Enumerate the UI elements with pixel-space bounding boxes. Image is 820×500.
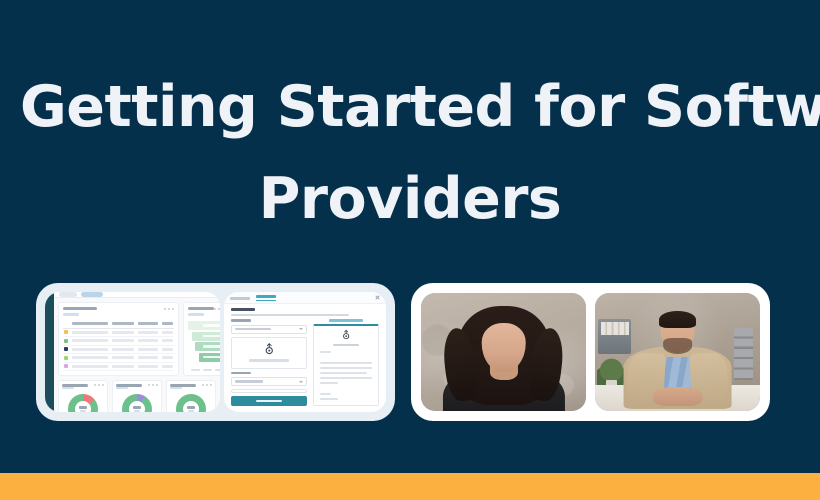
donut-chart-3 xyxy=(176,394,206,412)
presenter-hair xyxy=(659,311,697,329)
column-header-metric-1 xyxy=(112,322,134,325)
email-signoff-line xyxy=(320,393,330,395)
column-header-metric-3 xyxy=(162,322,173,325)
chevron-down-icon xyxy=(299,381,303,383)
dashboard-main xyxy=(54,298,220,380)
analytics-dashboard-screenshot xyxy=(45,292,220,412)
funnel-legend xyxy=(188,369,220,371)
template-select[interactable] xyxy=(231,325,307,334)
performance-table-panel xyxy=(58,302,179,376)
logo-upload-box[interactable]: ⛢ xyxy=(231,337,307,369)
table-row[interactable] xyxy=(63,337,174,346)
page-title: Getting Started for Software Providers xyxy=(0,84,820,222)
settings-tab-bar xyxy=(224,292,386,304)
funnel-band xyxy=(188,321,220,330)
panel-menu-icon[interactable] xyxy=(148,384,158,386)
column-header-name xyxy=(72,322,108,325)
page-title-line-2: Providers xyxy=(20,176,800,222)
funnel-band xyxy=(195,342,220,351)
email-body-line xyxy=(320,367,372,369)
panel-subtitle-chip xyxy=(116,387,128,390)
settings-form: ⛢ xyxy=(231,319,307,406)
panel-subtitle-chip xyxy=(63,313,79,316)
table-header-row xyxy=(63,320,174,329)
donut-wrap xyxy=(116,394,158,412)
settings-header xyxy=(224,304,386,320)
email-body-line xyxy=(320,372,367,374)
table xyxy=(63,320,174,371)
preview-tab[interactable] xyxy=(313,319,379,322)
tab-general[interactable] xyxy=(230,294,250,303)
panel-menu-icon[interactable] xyxy=(94,384,104,386)
panel-header xyxy=(188,307,220,310)
panel-title xyxy=(63,307,97,310)
donut-charts-row xyxy=(54,380,220,412)
bottom-accent-bar xyxy=(0,473,820,500)
email-preview: ⛢ xyxy=(313,324,379,406)
brand-logo-icon: ⛢ xyxy=(264,343,274,356)
settings-title xyxy=(231,308,255,312)
dashboard-preview-card[interactable]: ⛢ ⛢ xyxy=(36,283,395,421)
funnel-band xyxy=(192,332,221,341)
email-body-line xyxy=(320,382,338,384)
office-shelf xyxy=(598,319,631,354)
panel-menu-icon[interactable] xyxy=(214,308,220,310)
donut-chart-card[interactable] xyxy=(58,380,108,412)
field-label-1 xyxy=(231,319,251,322)
email-logo: ⛢ xyxy=(333,331,359,346)
table-row[interactable] xyxy=(63,354,174,363)
brand-logo-icon: ⛢ xyxy=(342,331,350,342)
email-preview-column: ⛢ xyxy=(313,319,379,406)
table-row[interactable] xyxy=(63,329,174,338)
settings-extra-box xyxy=(231,389,307,393)
page-title-line-1: Getting Started for Software xyxy=(20,84,800,130)
settings-columns: ⛢ ⛢ xyxy=(224,319,386,412)
field-label-2 xyxy=(231,372,251,375)
office-rack xyxy=(734,328,754,380)
email-signature-line xyxy=(320,398,338,400)
donut-chart-1 xyxy=(68,394,98,412)
save-changes-button[interactable] xyxy=(231,396,307,406)
presenter-beard xyxy=(663,338,693,355)
donut-wrap xyxy=(62,394,104,412)
email-body-line xyxy=(320,362,372,364)
tab-branding[interactable] xyxy=(256,294,276,303)
close-icon[interactable] xyxy=(375,295,380,300)
donut-chart-card[interactable] xyxy=(112,380,162,412)
dashboard-sidebar xyxy=(45,292,54,412)
panel-title xyxy=(188,307,214,310)
video-thumbnails-card[interactable] xyxy=(411,283,770,421)
toolbar-action-chip[interactable] xyxy=(81,292,103,297)
funnel-chart-panel xyxy=(183,302,220,376)
donut-chart-card[interactable] xyxy=(166,380,216,412)
preview-cards-row: ⛢ ⛢ xyxy=(36,283,784,421)
video-thumbnail-presenter-female[interactable] xyxy=(421,293,586,411)
column-header-metric-2 xyxy=(138,322,158,325)
toolbar-filter-chip[interactable] xyxy=(59,292,77,297)
chevron-down-icon xyxy=(299,328,303,330)
settings-description xyxy=(231,314,349,317)
presenter-hands xyxy=(653,387,703,406)
email-greeting xyxy=(320,351,330,353)
panel-menu-icon[interactable] xyxy=(164,308,174,310)
email-body-line xyxy=(320,377,372,379)
donut-chart-2 xyxy=(122,394,152,412)
branding-email-settings-screenshot: ⛢ ⛢ xyxy=(224,292,386,412)
funnel-chart xyxy=(188,320,220,367)
funnel-band xyxy=(199,353,220,362)
color-select[interactable] xyxy=(231,377,307,386)
panel-subtitle-chip xyxy=(170,387,182,390)
dashboard-body xyxy=(54,292,220,412)
panel-menu-icon[interactable] xyxy=(202,384,212,386)
video-thumbnail-presenter-male[interactable] xyxy=(595,293,760,411)
panel-subtitle-chip xyxy=(188,313,204,316)
panel-subtitle-chip xyxy=(62,387,74,390)
donut-wrap xyxy=(170,394,212,412)
table-row[interactable] xyxy=(63,363,174,372)
panel-header xyxy=(63,307,174,310)
table-row[interactable] xyxy=(63,346,174,355)
presenter-face xyxy=(481,323,526,373)
